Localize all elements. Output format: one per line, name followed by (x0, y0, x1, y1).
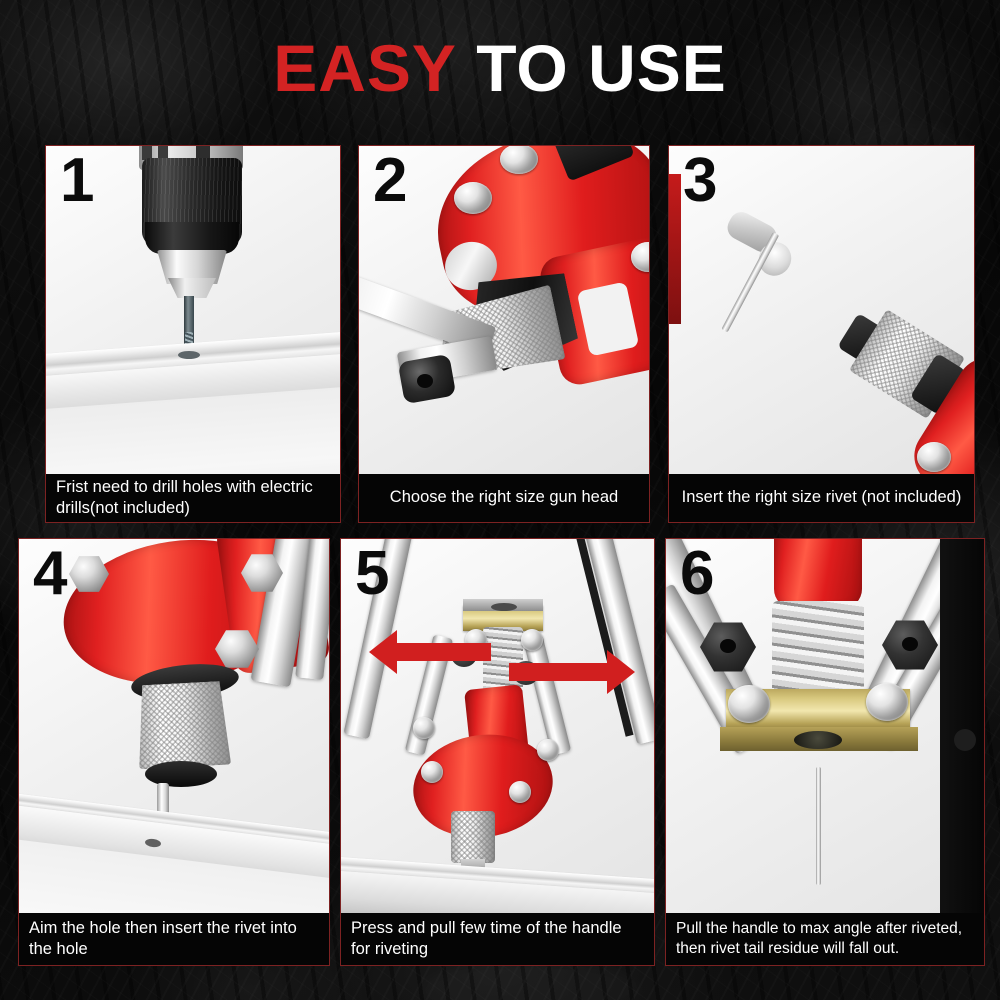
step-2-photo: 2 (359, 146, 649, 474)
step-1-photo: 1 (46, 146, 340, 474)
title-word-to-use: TO USE (476, 31, 727, 105)
step-4-photo: 4 (19, 539, 329, 913)
step-6-caption: Pull the handle to max angle after rivet… (666, 913, 984, 965)
step-5-photo: 5 (341, 539, 654, 913)
step-number-5: 5 (355, 543, 389, 605)
step-6-photo: 6 (666, 539, 984, 913)
step-number-4: 4 (33, 543, 67, 605)
step-panel-3[interactable]: 3 Insert the right size rivet (not inclu… (668, 145, 975, 523)
step-panel-1[interactable]: 1 Frist need to drill holes with electri… (45, 145, 341, 523)
step-panel-6[interactable]: 6 Pull th (665, 538, 985, 966)
motion-arrow-right-icon (509, 647, 635, 697)
step-2-caption: Choose the right size gun head (359, 474, 649, 522)
step-panel-5[interactable]: 5 (340, 538, 655, 966)
step-number-2: 2 (373, 150, 407, 212)
step-number-3: 3 (683, 150, 717, 212)
step-panel-2[interactable]: 2 Choose the right size gun head (358, 145, 650, 523)
step-4-caption: Aim the hole then insert the rivet into … (19, 913, 329, 965)
step-3-caption: Insert the right size rivet (not include… (669, 474, 974, 522)
step-5-caption: Press and pull few time of the handle fo… (341, 913, 654, 965)
step-1-caption: Frist need to drill holes with electric … (46, 474, 340, 522)
rivet-tail-residue (816, 767, 821, 885)
motion-arrow-left-icon (369, 627, 491, 677)
page-title: EASY TO USE (0, 26, 1000, 110)
step-number-1: 1 (60, 150, 94, 212)
step-number-6: 6 (680, 543, 714, 605)
title-word-easy: EASY (273, 31, 457, 105)
step-panel-4[interactable]: 4 Aim the hole then insert the rivet (18, 538, 330, 966)
steps-grid: 1 Frist need to drill holes with electri… (0, 140, 1000, 980)
step-3-photo: 3 (669, 146, 974, 474)
